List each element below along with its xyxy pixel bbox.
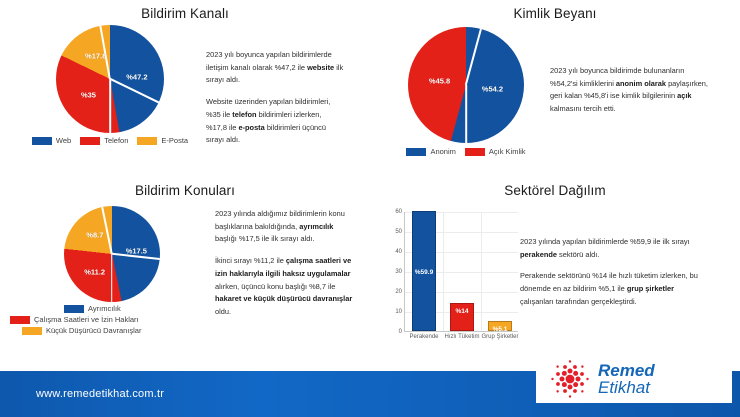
pie-slice-separator (109, 79, 111, 133)
bar-grup-şirketler[interactable]: %5.1 (488, 321, 512, 331)
pie-slice-separator (465, 85, 467, 143)
bar-plot-area: 0102030405060%59.9Perakende%14Hızlı Tüke… (404, 212, 518, 332)
panel-kimlik-beyani: Kimlik Beyanı %54.2 %45.8 Anonim Açık Ki… (370, 0, 740, 178)
pie-1-slice-label-web: %47.2 (126, 72, 147, 81)
legend-item-calisma-saatleri[interactable]: Çalışma Saatleri ve İzin Hakları (10, 315, 139, 324)
brand-name-line1: Remed (598, 362, 655, 380)
bar-chart-4: 0102030405060%59.9Perakende%14Hızlı Tüke… (370, 198, 520, 332)
bar-y-tick-label: 60 (395, 209, 402, 215)
legend-item-acik-kimlik[interactable]: Açık Kimlik (465, 147, 526, 156)
narrative-paragraph: 2023 yılında yapılan bildirimlerde %59,9… (520, 236, 700, 261)
panel-2-narrative: 2023 yılı boyunca bildirimde bulunanları… (550, 21, 722, 116)
pie-2-slice-label-acik-kimlik: %45.8 (429, 77, 450, 86)
panel-4-narrative: 2023 yılında yapılan bildirimlerde %59,9… (520, 198, 710, 309)
pie-2-slice-label-anonim: %54.2 (482, 84, 503, 93)
legend-label-calisma-saatleri: Çalışma Saatleri ve İzin Hakları (34, 315, 139, 324)
legend-swatch-telefon (80, 137, 100, 145)
bar-y-tick-label: 50 (395, 229, 402, 235)
legend-swatch-acik-kimlik (465, 148, 485, 156)
legend-swatch-ayrimcilik (64, 305, 84, 313)
pie-1-slice-label-telefon: %35 (81, 91, 96, 100)
pie-1-slice-label-eposta: %17.8 (85, 52, 106, 61)
legend-label-ayrimcilik: Ayrımcılık (88, 304, 121, 313)
pie-3-slice-label-kucuk: %8.7 (86, 231, 103, 240)
legend-label-anonim: Anonim (430, 147, 455, 156)
pie-chart-1: %47.2 %35 %17.8 Web Telefon E-Po (0, 21, 206, 145)
slide: Bildirim Kanalı %47.2 %35 %17.8 Web T (0, 0, 740, 417)
panel-2-title: Kimlik Beyanı (370, 0, 740, 21)
pie-1-legend: Web Telefon E-Posta (30, 136, 190, 145)
bar-y-tick-label: 40 (395, 249, 402, 255)
brand-logo-card: Remed Etikhat (536, 355, 732, 403)
legend-item-kucuk-dusurucu[interactable]: Küçük Düşürücü Davranışlar (10, 326, 141, 335)
panel-1-title: Bildirim Kanalı (0, 0, 370, 21)
bar-category-divider (443, 212, 444, 331)
legend-label-kucuk-dusurucu: Küçük Düşürücü Davranışlar (46, 326, 141, 335)
pie-3-slice-label-ayrimcilik: %17.5 (126, 247, 147, 256)
legend-item-ayrimcilik[interactable]: Ayrımcılık (10, 304, 121, 313)
bar-value-label: %59.9 (415, 269, 433, 276)
legend-item-web[interactable]: Web (32, 136, 71, 145)
narrative-paragraph: 2023 yılı boyunca yapılan bildirimlerde … (206, 49, 344, 87)
panel-4-title: Sektörel Dağılım (370, 178, 740, 198)
legend-label-eposta: E-Posta (161, 136, 188, 145)
pie-slice-separator (465, 29, 482, 85)
narrative-paragraph: Website üzerinden yapılan bildirimleri, … (206, 96, 344, 147)
bar-y-tick-label: 10 (395, 309, 402, 315)
narrative-paragraph: Perakende sektörünü %14 ile hızlı tüketi… (520, 270, 700, 308)
bar-value-label: %5.1 (493, 326, 508, 333)
legend-label-web: Web (56, 136, 71, 145)
legend-item-eposta[interactable]: E-Posta (137, 136, 188, 145)
legend-swatch-web (32, 137, 52, 145)
pie-2-graphic (408, 27, 524, 143)
pie-3-legend: Ayrımcılık Çalışma Saatleri ve İzin Hakl… (8, 304, 215, 335)
legend-swatch-kucuk-dusurucu (22, 327, 42, 335)
brand-name-line2: Etikhat (598, 379, 655, 397)
pie-chart-3: %17.5 %11.2 %8.7 Ayrımcılık Çalışma Saat… (0, 198, 215, 335)
bar-value-label: %14 (455, 308, 468, 315)
legend-label-telefon: Telefon (104, 136, 128, 145)
bar-y-tick-label: 30 (395, 269, 402, 275)
panel-3-narrative: 2023 yılında aldığımız bildirimlerin kon… (215, 198, 362, 319)
bar-x-tick-label: Grup Şirketler (481, 334, 518, 340)
bar-x-tick-label: Perakende (409, 334, 438, 340)
bar-category-divider (481, 212, 482, 331)
remed-sunburst-icon (548, 359, 592, 399)
bar-perakende[interactable]: %59.9 (412, 211, 436, 331)
narrative-paragraph: 2023 yılı boyunca bildirimde bulunanları… (550, 65, 712, 116)
legend-item-anonim[interactable]: Anonim (406, 147, 455, 156)
pie-1-graphic (56, 25, 164, 133)
panel-sektorel-dagilim: Sektörel Dağılım 0102030405060%59.9Perak… (370, 178, 740, 358)
bar-y-tick-label: 20 (395, 289, 402, 295)
panel-3-title: Bildirim Konuları (0, 178, 370, 198)
pie-slice-separator (110, 78, 159, 103)
footer-website-url[interactable]: www.remedetikhat.com.tr (36, 388, 164, 400)
pie-3-slice-label-calisma: %11.2 (84, 268, 105, 277)
panel-bildirim-kanali: Bildirim Kanalı %47.2 %35 %17.8 Web T (0, 0, 370, 178)
legend-swatch-eposta (137, 137, 157, 145)
narrative-paragraph: 2023 yılında aldığımız bildirimlerin kon… (215, 208, 356, 246)
legend-item-telefon[interactable]: Telefon (80, 136, 128, 145)
pie-slice-separator (111, 254, 113, 302)
pie-2-legend: Anonim Açık Kimlik (382, 147, 550, 156)
panel-bildirim-konulari: Bildirim Konuları %17.5 %11.2 %8.7 Ayrım… (0, 178, 370, 358)
pie-chart-2: %54.2 %45.8 Anonim Açık Kimlik (370, 21, 550, 156)
narrative-paragraph: İkinci sırayı %11,2 ile çalışma saatleri… (215, 255, 356, 319)
panel-1-narrative: 2023 yılı boyunca yapılan bildirimlerde … (206, 21, 352, 147)
bar-x-tick-label: Hızlı Tüketim (445, 334, 480, 340)
bar-y-tick-label: 0 (399, 329, 402, 335)
legend-label-acik-kimlik: Açık Kimlik (489, 147, 526, 156)
bar-hızlı-tüketim[interactable]: %14 (450, 303, 474, 331)
legend-swatch-anonim (406, 148, 426, 156)
legend-swatch-calisma-saatleri (10, 316, 30, 324)
brand-logo-text: Remed Etikhat (598, 362, 655, 397)
